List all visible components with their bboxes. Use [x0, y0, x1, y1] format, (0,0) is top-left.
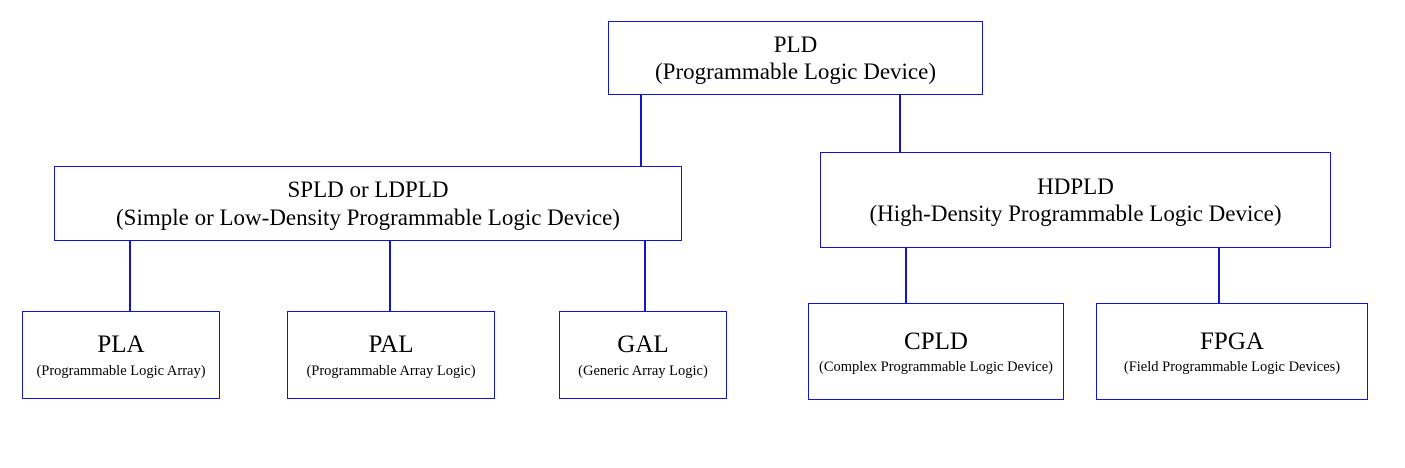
node-pld-title: PLD [774, 31, 817, 58]
node-pla-subtitle: (Programmable Logic Array) [36, 363, 205, 380]
node-pld[interactable]: PLD (Programmable Logic Device) [608, 21, 983, 95]
connector-pld-to-spld [640, 94, 642, 167]
node-hdpld-title: HDPLD [1037, 173, 1114, 200]
node-pld-subtitle: (Programmable Logic Device) [655, 58, 936, 85]
node-spld-title: SPLD or LDPLD [287, 176, 448, 203]
pld-hierarchy-diagram: PLD (Programmable Logic Device) SPLD or … [0, 0, 1405, 468]
node-gal-title: GAL [617, 330, 668, 360]
node-spld[interactable]: SPLD or LDPLD (Simple or Low-Density Pro… [54, 166, 682, 241]
connector-spld-to-gal [644, 240, 646, 312]
node-pla-title: PLA [97, 330, 144, 360]
connector-pld-to-hdpld [899, 94, 901, 153]
connector-hdpld-to-cpld [905, 247, 907, 304]
node-fpga-title: FPGA [1200, 327, 1264, 357]
node-gal-subtitle: (Generic Array Logic) [578, 363, 708, 380]
connector-hdpld-to-fpga [1218, 247, 1220, 304]
connector-spld-to-pal [389, 240, 391, 312]
node-cpld[interactable]: CPLD (Complex Programmable Logic Device) [808, 303, 1064, 400]
connector-spld-to-pla [129, 240, 131, 312]
node-fpga[interactable]: FPGA (Field Programmable Logic Devices) [1096, 303, 1368, 400]
node-gal[interactable]: GAL (Generic Array Logic) [559, 311, 727, 399]
node-fpga-subtitle: (Field Programmable Logic Devices) [1124, 359, 1340, 376]
node-pla[interactable]: PLA (Programmable Logic Array) [22, 311, 220, 399]
node-cpld-title: CPLD [904, 327, 968, 357]
node-hdpld[interactable]: HDPLD (High-Density Programmable Logic D… [820, 152, 1331, 248]
node-cpld-subtitle: (Complex Programmable Logic Device) [819, 359, 1053, 376]
node-pal[interactable]: PAL (Programmable Array Logic) [287, 311, 495, 399]
node-hdpld-subtitle: (High-Density Programmable Logic Device) [870, 200, 1282, 227]
node-pal-title: PAL [369, 330, 414, 360]
node-spld-subtitle: (Simple or Low-Density Programmable Logi… [116, 204, 620, 231]
node-pal-subtitle: (Programmable Array Logic) [306, 363, 475, 380]
